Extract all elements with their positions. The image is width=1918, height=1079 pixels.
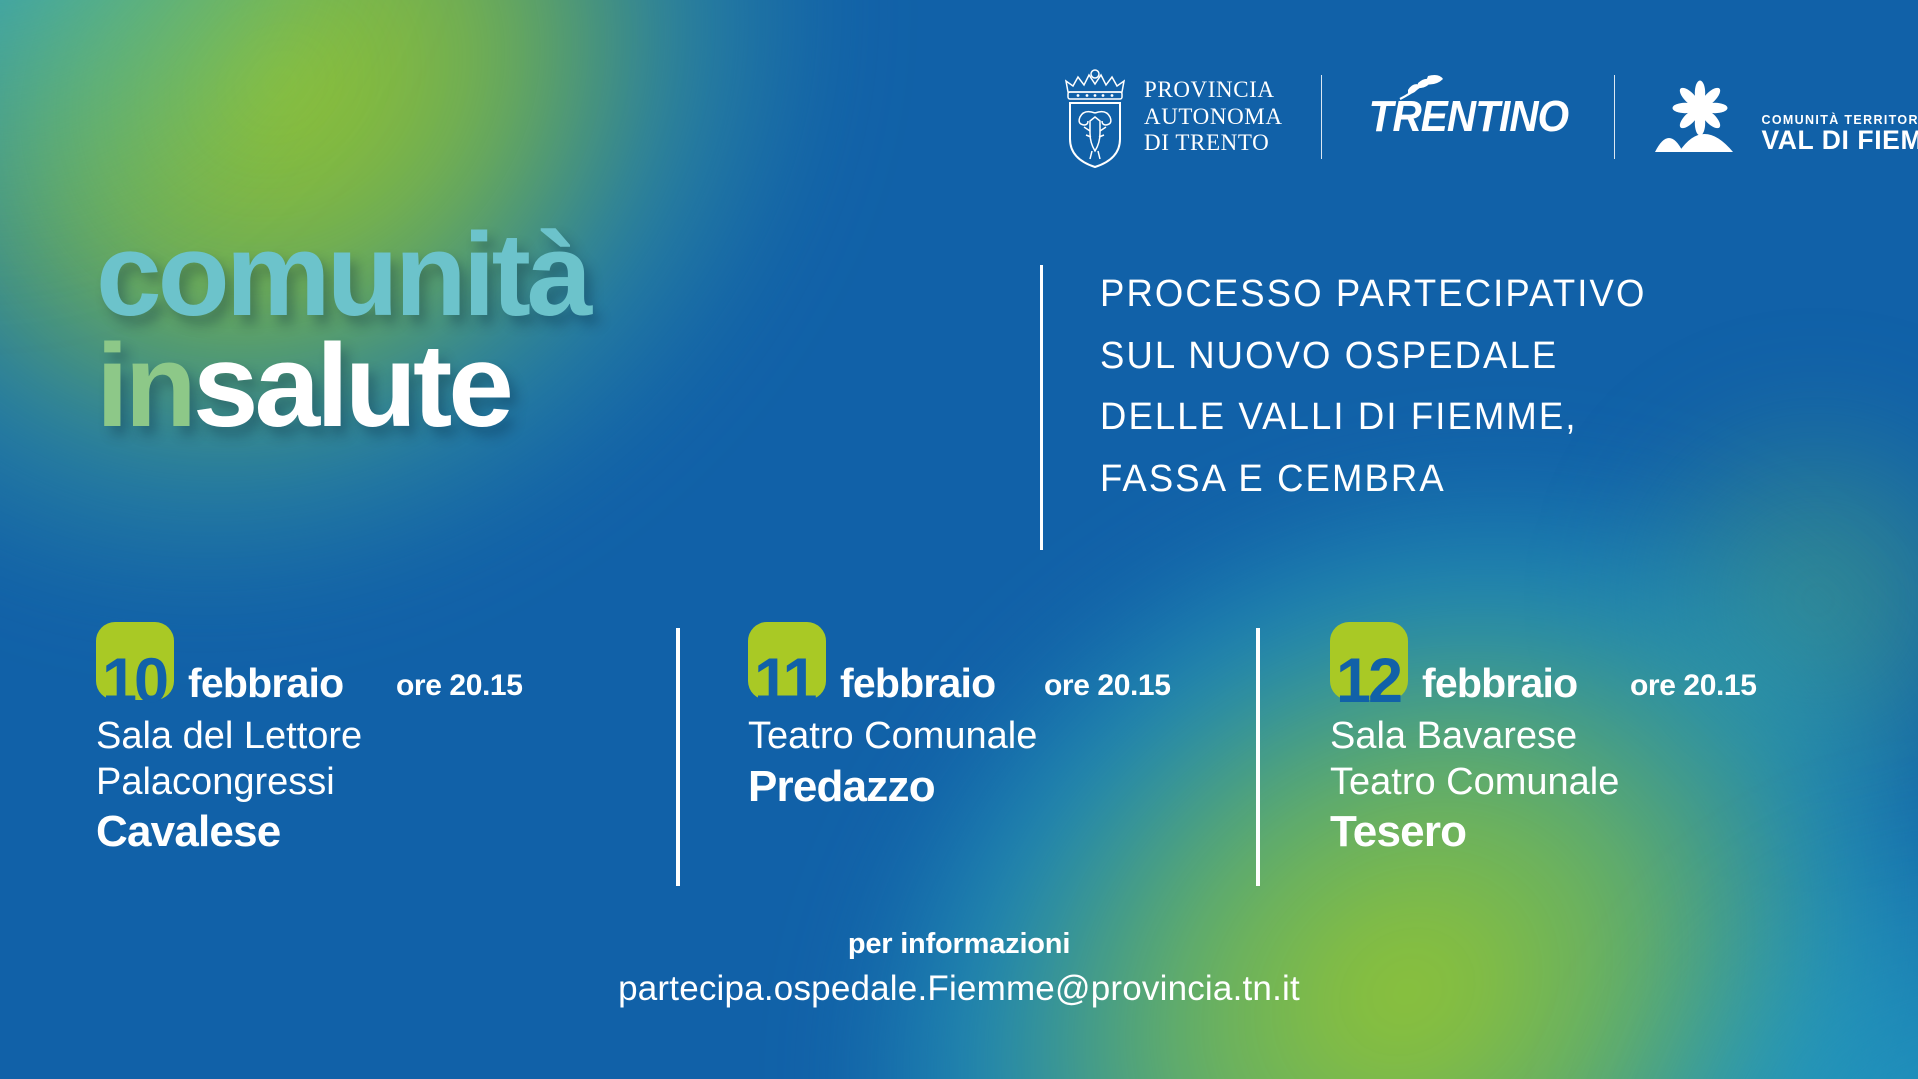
event-date-header: 12 febbraio ore 20.15	[1330, 622, 1796, 708]
subhead-line-4: FASSA E CEMBRA	[1100, 449, 1830, 511]
event-day: 11	[754, 650, 815, 713]
event-item-cavalese: 10 febbraio ore 20.15 Sala del Lettore P…	[96, 622, 676, 857]
info-email[interactable]: partecipa.ospedale.Fiemme@provincia.tn.i…	[0, 969, 1918, 1009]
event-venue-line-2: Palacongressi	[96, 760, 636, 806]
daisy-flower-hills-icon	[1653, 78, 1749, 156]
event-month: febbraio	[1422, 660, 1577, 707]
coat-of-arms-eagle-crown-icon	[1060, 65, 1130, 169]
event-venue: Sala Bavarese Teatro Comunale	[1330, 714, 1796, 805]
logo-trentino: TRENTINO	[1360, 92, 1577, 142]
event-venue-line-1: Sala del Lettore	[96, 714, 636, 760]
footer: per informazioni partecipa.ospedale.Fiem…	[0, 928, 1918, 1009]
subhead-line-3: DELLE VALLI DI FIEMME,	[1100, 387, 1830, 449]
headline-word-in: in	[96, 320, 193, 452]
logo-divider-1	[1321, 75, 1322, 159]
event-date-header: 10 febbraio ore 20.15	[96, 622, 636, 708]
event-month: febbraio	[840, 660, 995, 707]
event-column-divider-1	[676, 628, 680, 886]
event-town: Tesero	[1330, 807, 1796, 857]
event-item-tesero: 12 febbraio ore 20.15 Sala Bavarese Teat…	[1256, 622, 1836, 857]
provincia-line-2: AUTONOMA	[1144, 104, 1283, 131]
background-gradient-bottom-right	[521, 34, 1918, 1079]
headline: comunità insalute	[96, 228, 996, 434]
event-venue: Sala del Lettore Palacongressi	[96, 714, 636, 805]
headline-line-1: comunità	[96, 228, 996, 322]
subhead: PROCESSO PARTECIPATIVO SUL NUOVO OSPEDAL…	[1100, 264, 1830, 510]
event-town: Cavalese	[96, 807, 636, 857]
headline-divider	[1040, 265, 1043, 550]
event-time: ore 20.15	[1630, 669, 1757, 703]
trentino-wordmark: TRENTINO	[1368, 92, 1568, 142]
event-day: 10	[102, 650, 166, 713]
info-label: per informazioni	[0, 928, 1918, 961]
provincia-line-1: PROVINCIA	[1144, 77, 1283, 104]
event-day: 12	[1336, 650, 1400, 713]
logo-divider-2	[1614, 75, 1615, 159]
event-list: 10 febbraio ore 20.15 Sala del Lettore P…	[96, 622, 1836, 857]
event-time: ore 20.15	[396, 669, 523, 703]
provincia-wordmark: PROVINCIA AUTONOMA DI TRENTO	[1144, 77, 1283, 157]
headline-line-2: insalute	[96, 339, 996, 433]
event-date-header: 11 febbraio ore 20.15	[748, 622, 1216, 708]
event-venue-line-1: Teatro Comunale	[748, 714, 1216, 760]
event-month: febbraio	[188, 660, 343, 707]
event-venue-line-2: Teatro Comunale	[1330, 760, 1796, 806]
vdf-line-bottom: VAL DI FIEMME	[1761, 127, 1918, 154]
event-town: Predazzo	[748, 762, 1216, 812]
logo-bar: PROVINCIA AUTONOMA DI TRENTO TRENTINO	[1060, 62, 1918, 172]
subhead-line-2: SUL NUOVO OSPEDALE	[1100, 326, 1830, 388]
event-column-divider-2	[1256, 628, 1260, 886]
subhead-line-1: PROCESSO PARTECIPATIVO	[1100, 264, 1830, 326]
event-venue: Teatro Comunale	[748, 714, 1216, 760]
provincia-line-3: DI TRENTO	[1144, 130, 1283, 157]
event-time: ore 20.15	[1044, 669, 1171, 703]
poster-root: PROVINCIA AUTONOMA DI TRENTO TRENTINO	[0, 0, 1918, 1079]
event-venue-line-1: Sala Bavarese	[1330, 714, 1796, 760]
event-item-predazzo: 11 febbraio ore 20.15 Teatro Comunale Pr…	[676, 622, 1256, 857]
headline-word-salute: salute	[193, 320, 510, 452]
logo-provincia-autonoma-di-trento: PROVINCIA AUTONOMA DI TRENTO	[1060, 65, 1283, 169]
val-di-fiemme-wordmark: COMUNITÀ TERRITORIALE DELLA VAL DI FIEMM…	[1761, 113, 1918, 156]
logo-val-di-fiemme: COMUNITÀ TERRITORIALE DELLA VAL DI FIEMM…	[1653, 78, 1918, 156]
